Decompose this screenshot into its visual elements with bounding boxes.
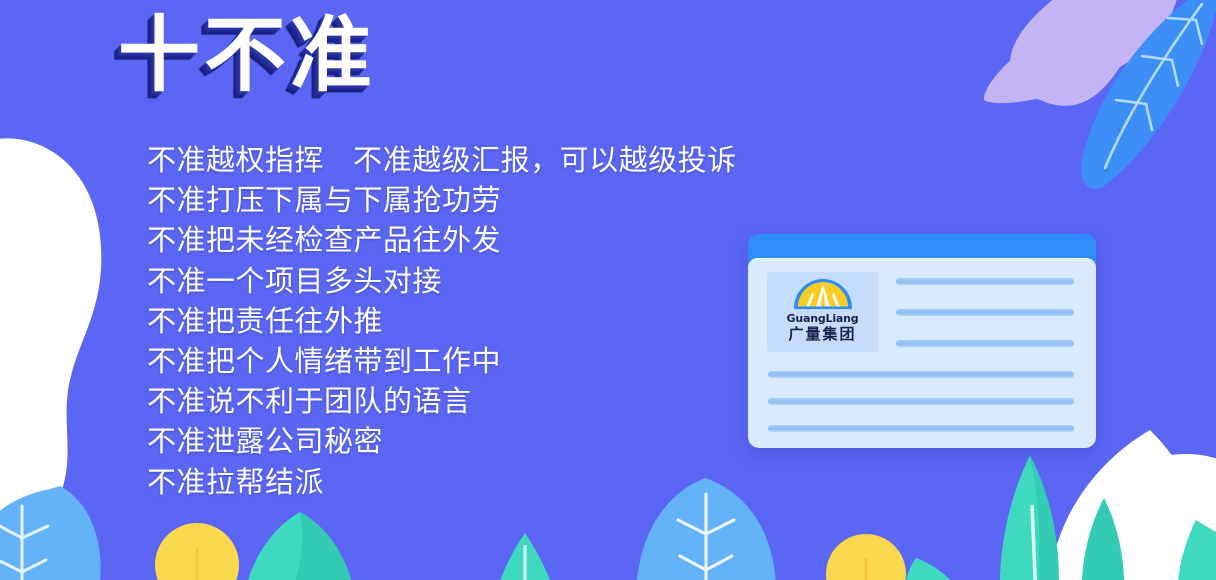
- rule-item-9: 不准拉帮结派: [147, 462, 737, 502]
- yellow-circle-right: [826, 534, 906, 580]
- teal-leaf-tall-right-shape: [1030, 455, 1059, 580]
- card-text-line-right-3: [896, 340, 1074, 347]
- rule-item-7: 不准说不利于团队的语言: [147, 381, 737, 421]
- teal-leaf-f-shape: [1178, 520, 1216, 580]
- teal-leaf-e-shape: [1082, 498, 1125, 580]
- lavender-leaf-shape-main: [984, 0, 1182, 103]
- card-text-line-full-2: [768, 398, 1074, 405]
- white-blob-bottom-right-shape: [1050, 430, 1216, 580]
- rule-item-4: 不准一个项目多头对接: [147, 261, 737, 301]
- skyblue-leaf-left-shape: [0, 488, 98, 580]
- rule-item-1: 不准越权指挥 不准越级汇报，可以越级投诉: [147, 140, 737, 180]
- blue-leaf-shape: [1081, 0, 1216, 189]
- rule-item-2: 不准打压下属与下属抢功劳: [147, 180, 737, 220]
- skyblue-leaf-left-main: [0, 486, 101, 580]
- card-text-line-right-1: [896, 278, 1074, 285]
- teal-leaf-d-shape: [904, 558, 964, 580]
- teal-leaf-tall-left-shape: [1000, 455, 1040, 580]
- teal-leaf-a-shape: [244, 512, 306, 580]
- company-logo-name-cn: 广量集团: [788, 326, 856, 343]
- skyblue-leaf-left-veins: [0, 506, 48, 580]
- lavender-leaf-shape: [1010, 0, 1143, 106]
- teal-leaf-b-shape: [288, 512, 356, 580]
- rule-item-3: 不准把未经检查产品往外发: [147, 220, 737, 260]
- company-card: GuangLiang 广量集团: [748, 234, 1096, 448]
- poster-canvas: 十不准 不准越权指挥 不准越级汇报，可以越级投诉 不准打压下属与下属抢功劳 不准…: [0, 0, 1216, 580]
- teal-leaf-c-shape: [494, 533, 556, 580]
- skyblue-leaf-center-veins: [678, 494, 734, 580]
- rule-item-6: 不准把个人情绪带到工作中: [147, 341, 737, 381]
- white-circle-bottom-right: [1078, 454, 1216, 580]
- company-logo: GuangLiang 广量集团: [767, 272, 878, 352]
- rule-item-5: 不准把责任往外推: [147, 301, 737, 341]
- teal-leaf-tall-vein: [1032, 505, 1036, 580]
- blue-leaf-veins: [1105, 4, 1202, 168]
- rules-list: 不准越权指挥 不准越级汇报，可以越级投诉 不准打压下属与下属抢功劳 不准把未经检…: [147, 140, 737, 502]
- company-logo-name-en: GuangLiang: [787, 312, 859, 325]
- white-blob-left-shape: [0, 138, 101, 556]
- poster-title: 十不准: [118, 8, 376, 105]
- rule-item-8: 不准泄露公司秘密: [147, 421, 737, 461]
- dome-arch-logo-icon: [792, 277, 854, 310]
- card-text-line-right-2: [896, 309, 1074, 316]
- card-text-line-full-3: [768, 425, 1074, 432]
- card-text-line-full-1: [768, 371, 1074, 378]
- card-body: GuangLiang 广量集团: [748, 258, 1096, 448]
- yellow-circle-left: [155, 523, 239, 580]
